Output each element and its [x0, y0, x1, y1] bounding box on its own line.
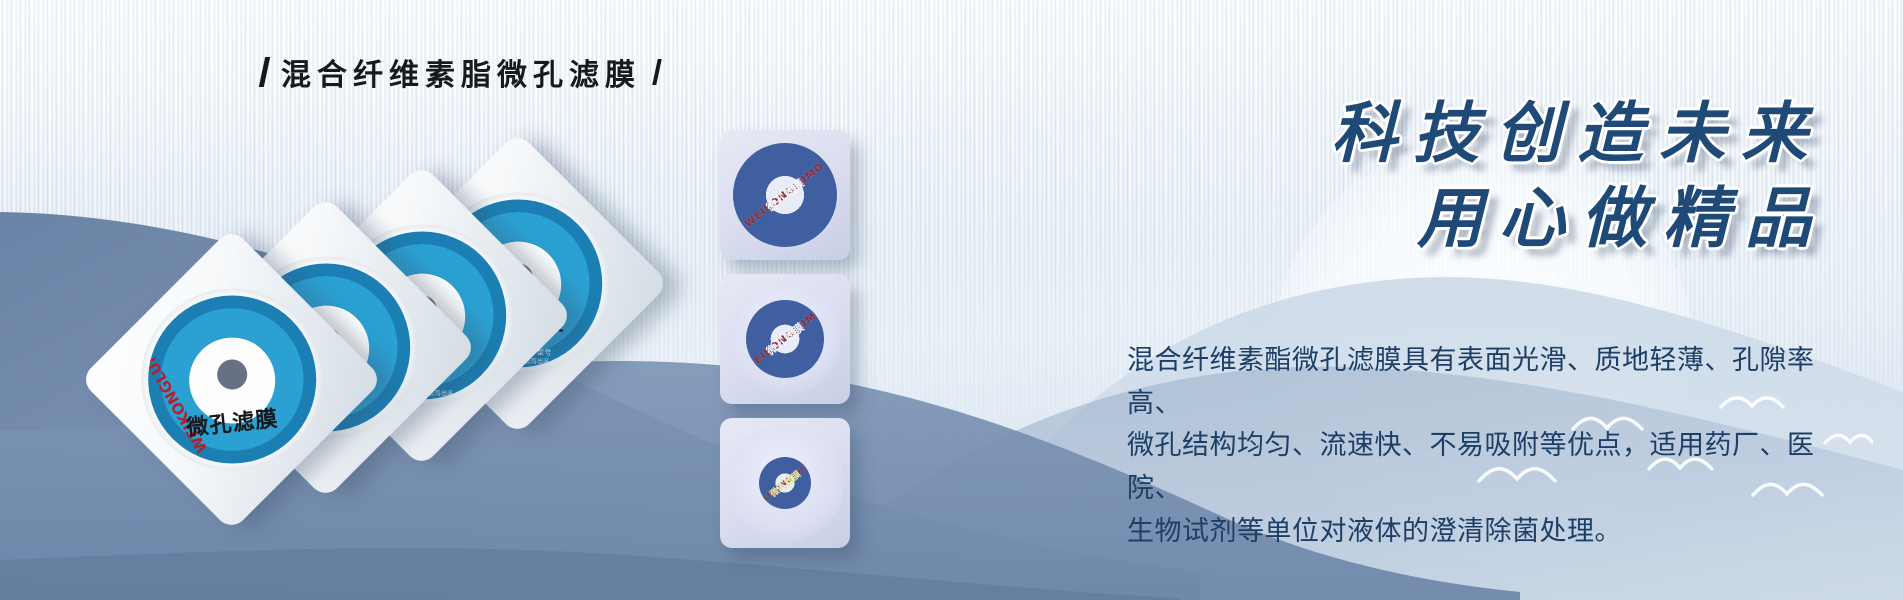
membrane-label: WEIKONGLUMO 微孔滤膜: [759, 457, 811, 509]
membrane-sample: WEIKONGLUMO 微孔滤膜: [720, 274, 850, 404]
membrane-sample-stack: WEIKONGLUMO 微孔滤膜 WEIKONGLUMO 微孔滤膜 WEIKON…: [720, 130, 850, 562]
description-line-3: 生物试剂等单位对液体的澄清除菌处理。: [1127, 511, 1827, 554]
product-package-cluster: WEIKONGLUMO 微孔滤膜 产品 标准 孔径 型号 微孔滤膜有限公司出品 …: [118, 148, 678, 508]
description-paragraph: 混合纤维素酯微孔滤膜具有表面光滑、质地轻薄、孔隙率高、 微孔结构均匀、流速快、不…: [1127, 340, 1827, 553]
membrane-chinese-text: 微孔滤膜: [763, 175, 808, 215]
title-bar-left: [259, 57, 270, 87]
section-title-text: 混合纤维素脂微孔滤膜: [281, 50, 641, 94]
title-bar-right: [652, 59, 662, 85]
section-title: 混合纤维素脂微孔滤膜: [262, 50, 659, 94]
product-label: WEIKONGLUMO 微孔滤膜: [148, 296, 316, 464]
headline-block: 科技创造未来 用心做精品: [1331, 96, 1827, 257]
promo-banner: 混合纤维素脂微孔滤膜 WEIKONGLUMO 微孔滤膜 产品 标准 孔径 型号 …: [0, 0, 1903, 600]
description-line-2: 微孔结构均匀、流速快、不易吸附等优点，适用药厂、医院、: [1127, 425, 1827, 510]
membrane-sample: WEIKONGLUMO 微孔滤膜: [720, 130, 850, 260]
membrane-chinese-text: 微孔滤膜: [763, 319, 808, 359]
membrane-chinese-text: 微孔滤膜: [767, 467, 803, 499]
headline-line-1: 科技创造未来: [1331, 96, 1827, 173]
membrane-label: WEIKONGLUMO 微孔滤膜: [733, 143, 837, 247]
membrane-sample: WEIKONGLUMO 微孔滤膜: [720, 418, 850, 548]
headline-line-2: 用心做精品: [1331, 181, 1831, 258]
membrane-label: WEIKONGLUMO 微孔滤膜: [746, 300, 824, 378]
description-line-1: 混合纤维素酯微孔滤膜具有表面光滑、质地轻薄、孔隙率高、: [1127, 340, 1827, 425]
